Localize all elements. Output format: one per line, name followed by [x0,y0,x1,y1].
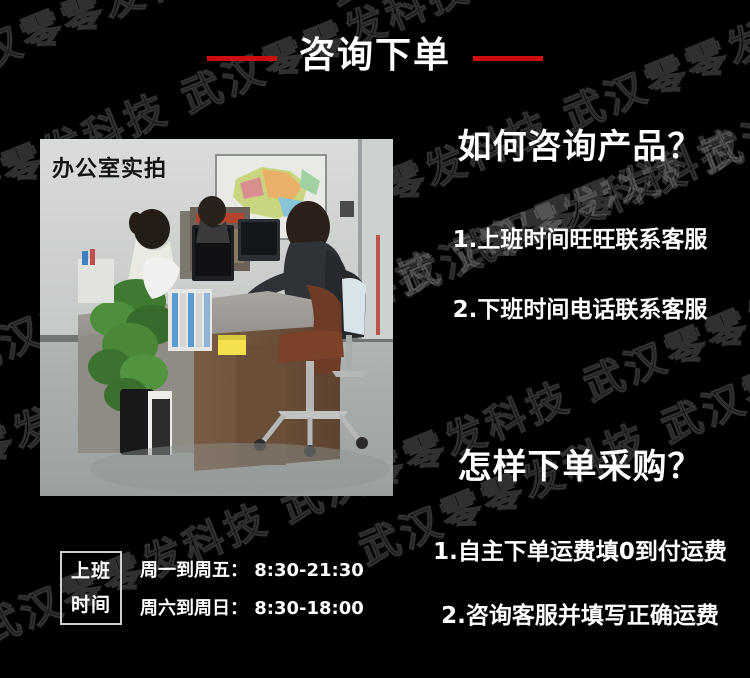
list-item: 1.自主下单运费填0到付运费 [420,537,740,567]
hours-badge: 上班 时间 [60,551,122,625]
page-title: 咨询下单 [299,38,451,74]
office-photo: 办公室实拍 [40,139,393,496]
watermark-text: 武汉零零发科技 武汉零零发科技 武汉零零发科技 [319,0,750,16]
section-heading: 如何咨询产品？ [420,125,740,169]
section-heading: 怎样下单采购？ [420,445,740,489]
hours-row-weekend: 周六到周日： 8:30-18:00 [140,594,364,620]
section-list: 1.上班时间旺旺联系客服 2.下班时间电话联系客服 [420,225,740,325]
banner-header: 咨询下单 [0,26,750,86]
business-hours: 上班 时间 周一到周五： 8:30-21:30 周六到周日： 8:30-18:0… [60,548,400,628]
list-item: 2.下班时间电话联系客服 [420,295,740,325]
hours-rows: 周一到周五： 8:30-21:30 周六到周日： 8:30-18:00 [140,556,364,620]
section-how-to-order: 怎样下单采购？ 1.自主下单运费填0到付运费 2.咨询客服并填写正确运费 [420,445,740,631]
office-photo-image [40,139,393,496]
hours-badge-line2: 时间 [71,588,111,622]
hours-row-weekday: 周一到周五： 8:30-21:30 [140,556,364,582]
list-item: 1.上班时间旺旺联系客服 [420,225,740,255]
section-how-to-inquire: 如何咨询产品？ 1.上班时间旺旺联系客服 2.下班时间电话联系客服 [420,125,740,325]
photo-label: 办公室实拍 [52,151,167,183]
hours-badge-line1: 上班 [71,554,111,588]
section-list: 1.自主下单运费填0到付运费 2.咨询客服并填写正确运费 [420,537,740,631]
right-red-rule-icon [473,56,543,61]
left-red-rule-icon [207,56,277,61]
list-item: 2.咨询客服并填写正确运费 [420,601,740,631]
info-sections: 如何咨询产品？ 1.上班时间旺旺联系客服 2.下班时间电话联系客服 怎样下单采购… [420,125,740,645]
promo-banner: 武汉零零发科技 武汉零零发科技 武汉零零发科技 武汉零零发科技 武汉零零发科技 … [0,0,750,678]
